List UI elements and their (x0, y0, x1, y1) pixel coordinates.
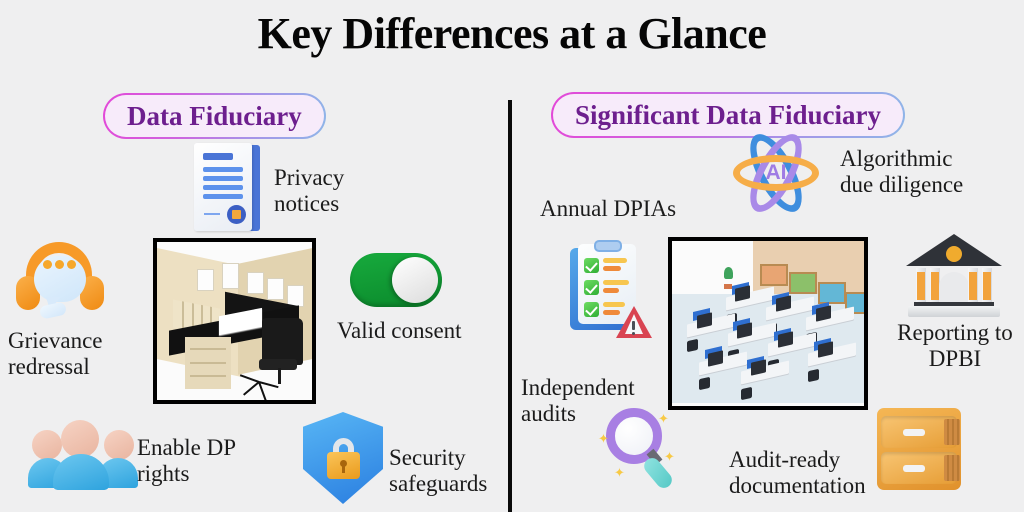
label-audit-ready-documentation: Audit-ready documentation (729, 447, 866, 500)
ai-badge-label: AI (729, 161, 823, 185)
ai-atom-icon: AI (729, 141, 823, 205)
headset-support-icon (14, 240, 106, 322)
open-plan-office-image (668, 237, 868, 410)
filing-cabinet-icon (877, 408, 961, 490)
pill-badge-left: Data Fiduciary (105, 95, 324, 137)
label-independent-audits: Independent audits (521, 375, 635, 428)
label-security-safeguards: Security safeguards (389, 445, 487, 498)
bank-building-icon (906, 228, 1002, 318)
page-title: Key Differences at a Glance (0, 8, 1024, 59)
label-reporting-to-dpbi: Reporting to DPBI (896, 320, 1014, 373)
label-valid-consent: Valid consent (337, 318, 462, 344)
single-office-cubicle-image (153, 238, 316, 404)
clipboard-checklist-warning-icon (568, 240, 646, 334)
privacy-document-icon (190, 143, 266, 235)
label-enable-dp-rights: Enable DP rights (137, 435, 236, 488)
pill-badge-right: Significant Data Fiduciary (553, 94, 903, 136)
label-privacy-notices: Privacy notices (274, 165, 344, 218)
toggle-switch-on-icon[interactable] (350, 253, 442, 307)
label-algorithmic-due-diligence: Algorithmic due diligence (840, 146, 963, 199)
shield-lock-icon (303, 412, 383, 504)
column-divider (508, 100, 512, 512)
people-group-icon (28, 410, 138, 488)
label-annual-dpias: Annual DPIAs (540, 196, 676, 222)
label-grievance-redressal: Grievance redressal (8, 328, 103, 381)
